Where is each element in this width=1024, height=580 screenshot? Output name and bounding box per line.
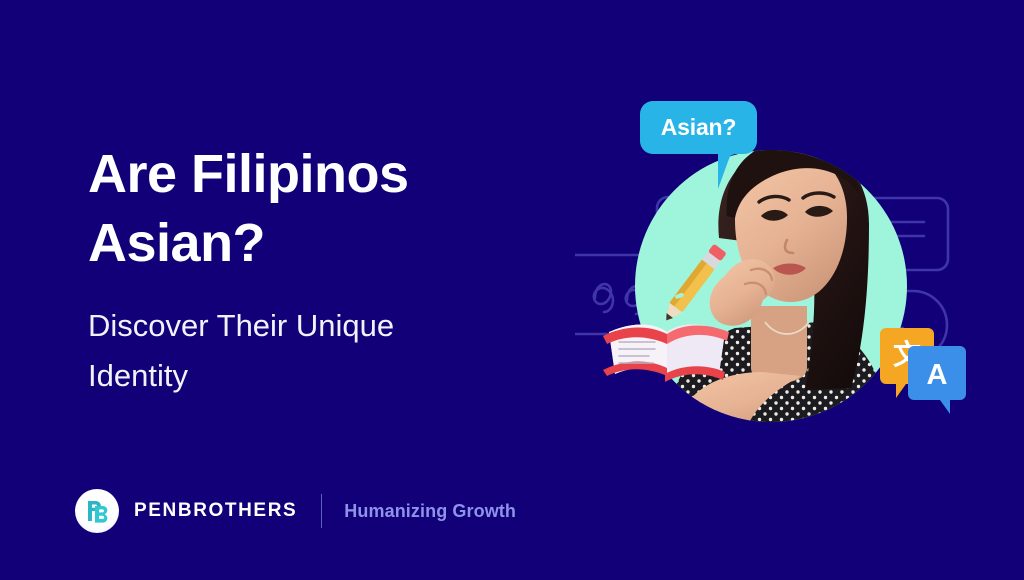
blog-banner: 文 A Asian? Are Filipinos Asian? Discover… [0,0,1024,580]
page-subtitle: Discover Their Unique Identity [88,301,568,401]
illustration-group: 文 A [575,70,995,470]
svg-text:A: A [927,359,948,391]
speech-bubble-tail [718,150,744,189]
brand-tagline: Humanizing Growth [344,501,516,522]
translate-icon: 文 A [880,328,966,414]
brand-divider [321,494,322,528]
penbrothers-logo-icon [75,489,119,533]
headline-block: Are Filipinos Asian? Discover Their Uniq… [88,140,568,402]
brand-lockup: PENBROTHERS Humanizing Growth [75,487,516,535]
brand-wordmark: PENBROTHERS [134,500,297,522]
speech-bubble-asian: Asian? [640,101,757,154]
speech-bubble-text: Asian? [661,114,736,141]
page-title: Are Filipinos Asian? [88,140,568,277]
